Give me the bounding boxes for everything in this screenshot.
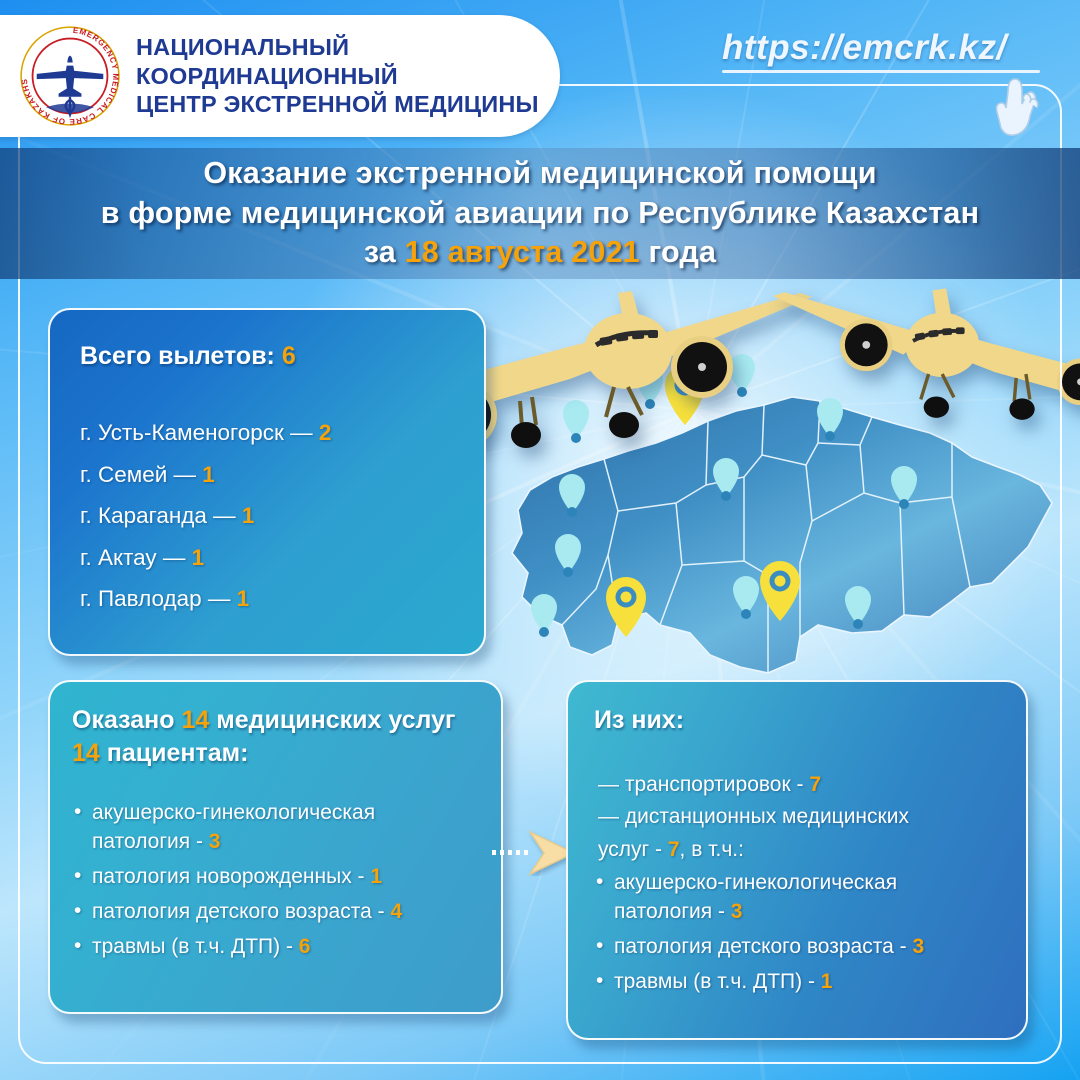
header-pill: EMERGENCY MEDICAL CARE OF KAZAKHSTAN Нац… [0, 15, 560, 137]
title-suffix: года [640, 235, 716, 269]
of-which-bullet-list: акушерско-гинекологическая патология - 3… [594, 869, 1000, 997]
services-title-part-b: медицинских услуг [209, 706, 455, 734]
dash-label: услуг - [598, 838, 668, 861]
of-which-body: — транспортировок - 7 — дистанционных ме… [594, 771, 1000, 998]
services-card: Оказано 14 медицинских услуг 14 пациента… [48, 680, 503, 1014]
flight-city: г. Семей — [80, 462, 202, 487]
flight-row: г. Семей — 1 [80, 454, 456, 496]
flight-city: г. Павлодар — [80, 586, 237, 611]
item-value: 3 [912, 935, 924, 958]
flight-count: 1 [237, 586, 250, 611]
flight-row: г. Караганда — 1 [80, 496, 456, 538]
dash-label: — дистанционных медицинских [598, 805, 909, 828]
item-label: акушерско-гинекологическая патология - [614, 871, 897, 923]
flight-count: 1 [192, 545, 205, 570]
flight-city: г. Усть-Каменогорск — [80, 420, 319, 445]
item-value: 4 [390, 900, 402, 923]
services-card-title: Оказано 14 медицинских услуг 14 пациента… [72, 704, 479, 769]
list-item: акушерско-гинекологическая патология - 3 [594, 869, 1000, 927]
flight-count: 1 [242, 503, 255, 528]
item-value: 1 [370, 865, 382, 888]
emergency-medical-care-of-kazakhstan-emblem: EMERGENCY MEDICAL CARE OF KAZAKHSTAN [18, 24, 122, 128]
org-line-2: Центр экстренной медицины [136, 90, 560, 119]
services-title-part-a: Оказано [72, 706, 182, 734]
flight-row: г. Актау — 1 [80, 537, 456, 579]
dash-item: — транспортировок - 7 [594, 771, 1000, 800]
flight-row: г. Павлодар — 1 [80, 579, 456, 621]
airplane-icon-right [765, 265, 1080, 450]
infographic-canvas: Оказание экстренной медицинской помощи в… [0, 0, 1080, 1080]
pointing-hand-cursor-icon [990, 66, 1048, 138]
flight-city: г. Караганда — [80, 503, 242, 528]
dash-tail: , в т.ч.: [680, 838, 744, 861]
flight-count: 1 [202, 462, 215, 487]
flights-total-value: 6 [282, 342, 296, 370]
dash-value: 7 [668, 838, 680, 861]
flight-city: г. Актау — [80, 545, 192, 570]
of-which-card-title: Из них: [594, 704, 1000, 737]
dash-value: 7 [809, 773, 821, 796]
item-label: травмы (в т.ч. ДТП) - [92, 935, 299, 958]
dash-label: — транспортировок - [598, 773, 809, 796]
of-which-card: Из них: — транспортировок - 7 — дистанци… [566, 680, 1028, 1040]
services-count: 14 [182, 706, 210, 734]
title-band: Оказание экстренной медицинской помощи в… [0, 148, 1080, 279]
item-value: 1 [821, 970, 833, 993]
flight-count: 2 [319, 420, 332, 445]
dash-item: услуг - 7, в т.ч.: [594, 836, 1000, 865]
flights-card-title: Всего вылетов: 6 [80, 340, 456, 373]
title-line-1: Оказание экстренной медицинской помощи [203, 154, 876, 194]
list-item: патология детского возраста - 3 [594, 933, 1000, 962]
services-bullet-list: акушерско-гинекологическая патология - 3… [72, 799, 479, 962]
dash-item: — дистанционных медицинских [594, 803, 1000, 832]
flight-row: г. Усть-Каменогорск — 2 [80, 413, 456, 455]
list-item: патология новорожденных - 1 [72, 863, 479, 892]
item-label: акушерско-гинекологическая патология - [92, 801, 375, 853]
arrow-dotted-line [492, 850, 530, 855]
website-url[interactable]: https://emcrk.kz/ [722, 28, 1052, 68]
item-label: патология новорожденных - [92, 865, 370, 888]
services-title-part-c: пациентам: [100, 739, 249, 767]
item-value: 6 [299, 935, 311, 958]
list-item: травмы (в т.ч. ДТП) - 1 [594, 968, 1000, 997]
map-zone [470, 285, 1080, 685]
organization-name: Национальный координационный Центр экстр… [136, 33, 560, 119]
org-line-1: Национальный координационный [136, 33, 560, 90]
flights-list: г. Усть-Каменогорск — 2 г. Семей — 1 г. … [80, 413, 456, 621]
website-url-block[interactable]: https://emcrk.kz/ [722, 28, 1052, 73]
flights-title-label: Всего вылетов: [80, 342, 282, 370]
title-line-2: в форме медицинской авиации по Республик… [101, 194, 979, 234]
list-item: травмы (в т.ч. ДТП) - 6 [72, 933, 479, 962]
patients-count: 14 [72, 739, 100, 767]
list-item: патология детского возраста - 4 [72, 898, 479, 927]
item-label: патология детского возраста - [614, 935, 912, 958]
item-value: 3 [209, 830, 221, 853]
item-value: 3 [731, 900, 743, 923]
item-label: патология детского возраста - [92, 900, 390, 923]
title-prefix: за [364, 235, 405, 269]
flights-card: Всего вылетов: 6 г. Усть-Каменогорск — 2… [48, 308, 486, 656]
list-item: акушерско-гинекологическая патология - 3 [72, 799, 479, 857]
title-date: 18 августа 2021 [405, 235, 640, 269]
title-line-3: за 18 августа 2021 года [364, 233, 716, 273]
item-label: травмы (в т.ч. ДТП) - [614, 970, 821, 993]
